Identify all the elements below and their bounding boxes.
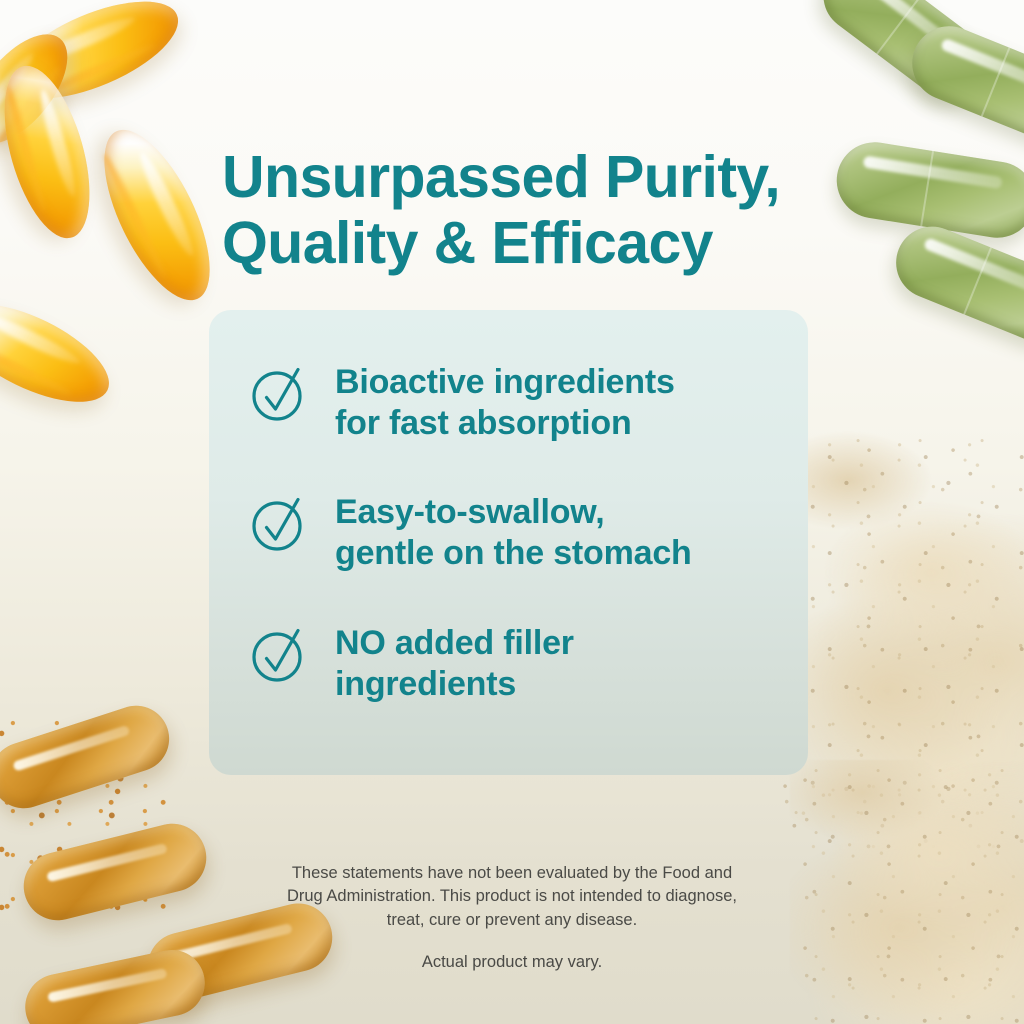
amber-capsule-decoration (0, 697, 178, 817)
benefits-list: Bioactive ingredients for fast absorptio… (249, 358, 782, 705)
softgel-capsule-decoration (0, 57, 106, 248)
benefits-card: Bioactive ingredients for fast absorptio… (209, 310, 808, 775)
check-circle-icon (249, 362, 311, 424)
list-item: Easy-to-swallow, gentle on the stomach (249, 488, 782, 574)
benefit-label: NO added filler ingredients (335, 619, 574, 705)
softgel-capsule-decoration (0, 18, 86, 161)
fda-disclaimer: These statements have not been evaluated… (222, 862, 802, 934)
spice-scatter-decoration (0, 716, 170, 916)
product-variance-note: Actual product may vary. (222, 951, 802, 975)
page-title: Unsurpassed Purity, Quality & Efficacy (222, 144, 842, 277)
powder-pile-lower-decoration (790, 760, 1024, 1024)
powder-grit-lower-texture (795, 765, 1024, 1024)
benefit-label: Bioactive ingredients for fast absorptio… (335, 358, 675, 444)
amber-capsule-decoration (17, 817, 214, 928)
check-circle-icon (249, 623, 311, 685)
promo-graphic: Unsurpassed Purity, Quality & Efficacy B… (0, 0, 1024, 1024)
list-item: Bioactive ingredients for fast absorptio… (249, 358, 782, 444)
benefit-label: Easy-to-swallow, gentle on the stomach (335, 488, 692, 574)
green-capsule-decoration (831, 137, 1024, 243)
amber-capsule-decoration (19, 944, 211, 1024)
green-capsule-decoration (885, 216, 1024, 352)
softgel-capsule-decoration (83, 115, 231, 315)
green-capsule-decoration (901, 15, 1024, 155)
list-item: NO added filler ingredients (249, 619, 782, 705)
green-capsule-decoration (809, 0, 1001, 115)
softgel-capsule-decoration (0, 284, 123, 421)
powder-pile-decoration (770, 430, 1024, 850)
powder-grit-texture (775, 435, 1024, 850)
softgel-capsule-decoration (0, 0, 191, 118)
check-circle-icon (249, 492, 311, 554)
